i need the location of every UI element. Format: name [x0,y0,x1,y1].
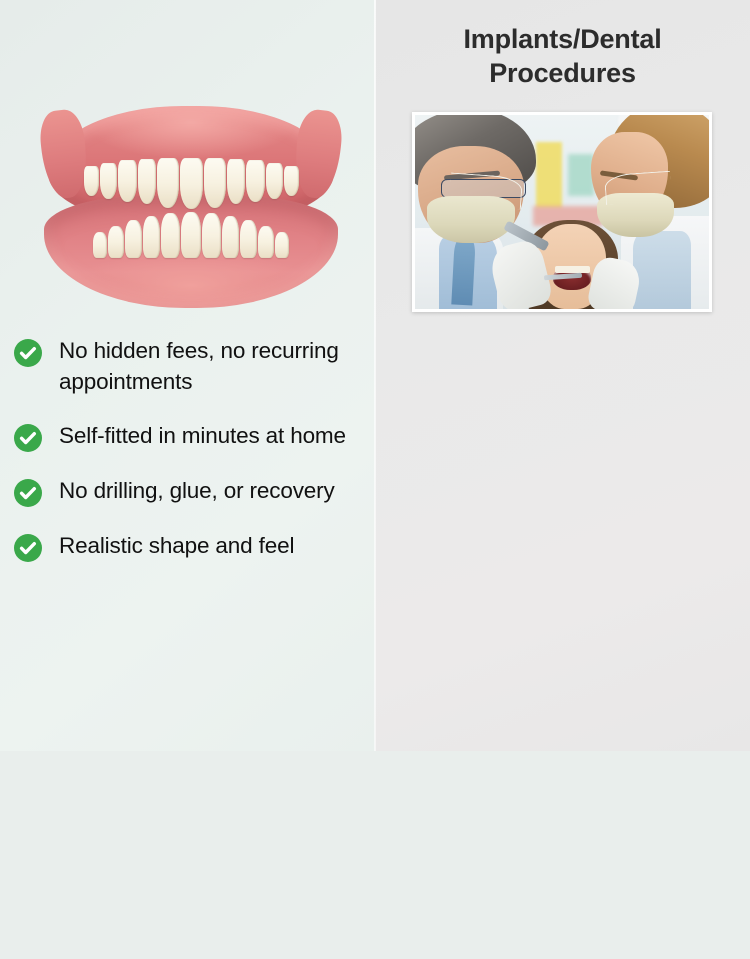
page-title-line-2: Procedures [401,56,724,90]
tray-item-yellow [536,142,562,208]
full-dentures-photo [36,100,346,315]
upper-teeth-row [66,158,316,209]
dental-procedure-scene [415,115,709,309]
list-item: No drilling, glue, or recovery [14,476,353,507]
dentist-left-tie [452,239,476,306]
lower-teeth-row [72,212,310,258]
benefit-text: Realistic shape and feel [59,531,294,562]
denture-illustration [36,100,346,315]
list-item: Self-fitted in minutes at home [14,421,353,452]
drawbacks-list: $3,000–$25,000+, upfront and ongoing Mul… [375,336,750,959]
check-circle-icon [14,479,42,507]
implants-column: Implants/Dental Procedures [375,0,750,751]
check-circle-icon [14,534,42,562]
list-item: Realistic shape and feel [14,531,353,562]
page-title: Implants/Dental Procedures [375,22,750,91]
benefits-list: No hidden fees, no recurring appointment… [0,336,375,562]
check-circle-icon [14,424,42,452]
tray-item-green [568,154,594,197]
dentist-right-shirt [633,231,692,309]
list-item: No hidden fees, no recurring appointment… [14,336,353,397]
benefit-text: No hidden fees, no recurring appointment… [59,336,351,397]
column-divider [374,0,376,751]
dental-procedure-photo [412,112,712,312]
check-circle-icon [14,339,42,367]
dentist-right-mask-strap [604,171,672,206]
benefit-text: No drilling, glue, or recovery [59,476,335,507]
comparison-infographic: No hidden fees, no recurring appointment… [0,0,750,751]
left-title-spacer [0,0,375,96]
benefit-text: Self-fitted in minutes at home [59,421,346,452]
patient-teeth [555,266,590,272]
dentures-column: No hidden fees, no recurring appointment… [0,0,375,751]
page-title-line-1: Implants/Dental [401,22,724,56]
